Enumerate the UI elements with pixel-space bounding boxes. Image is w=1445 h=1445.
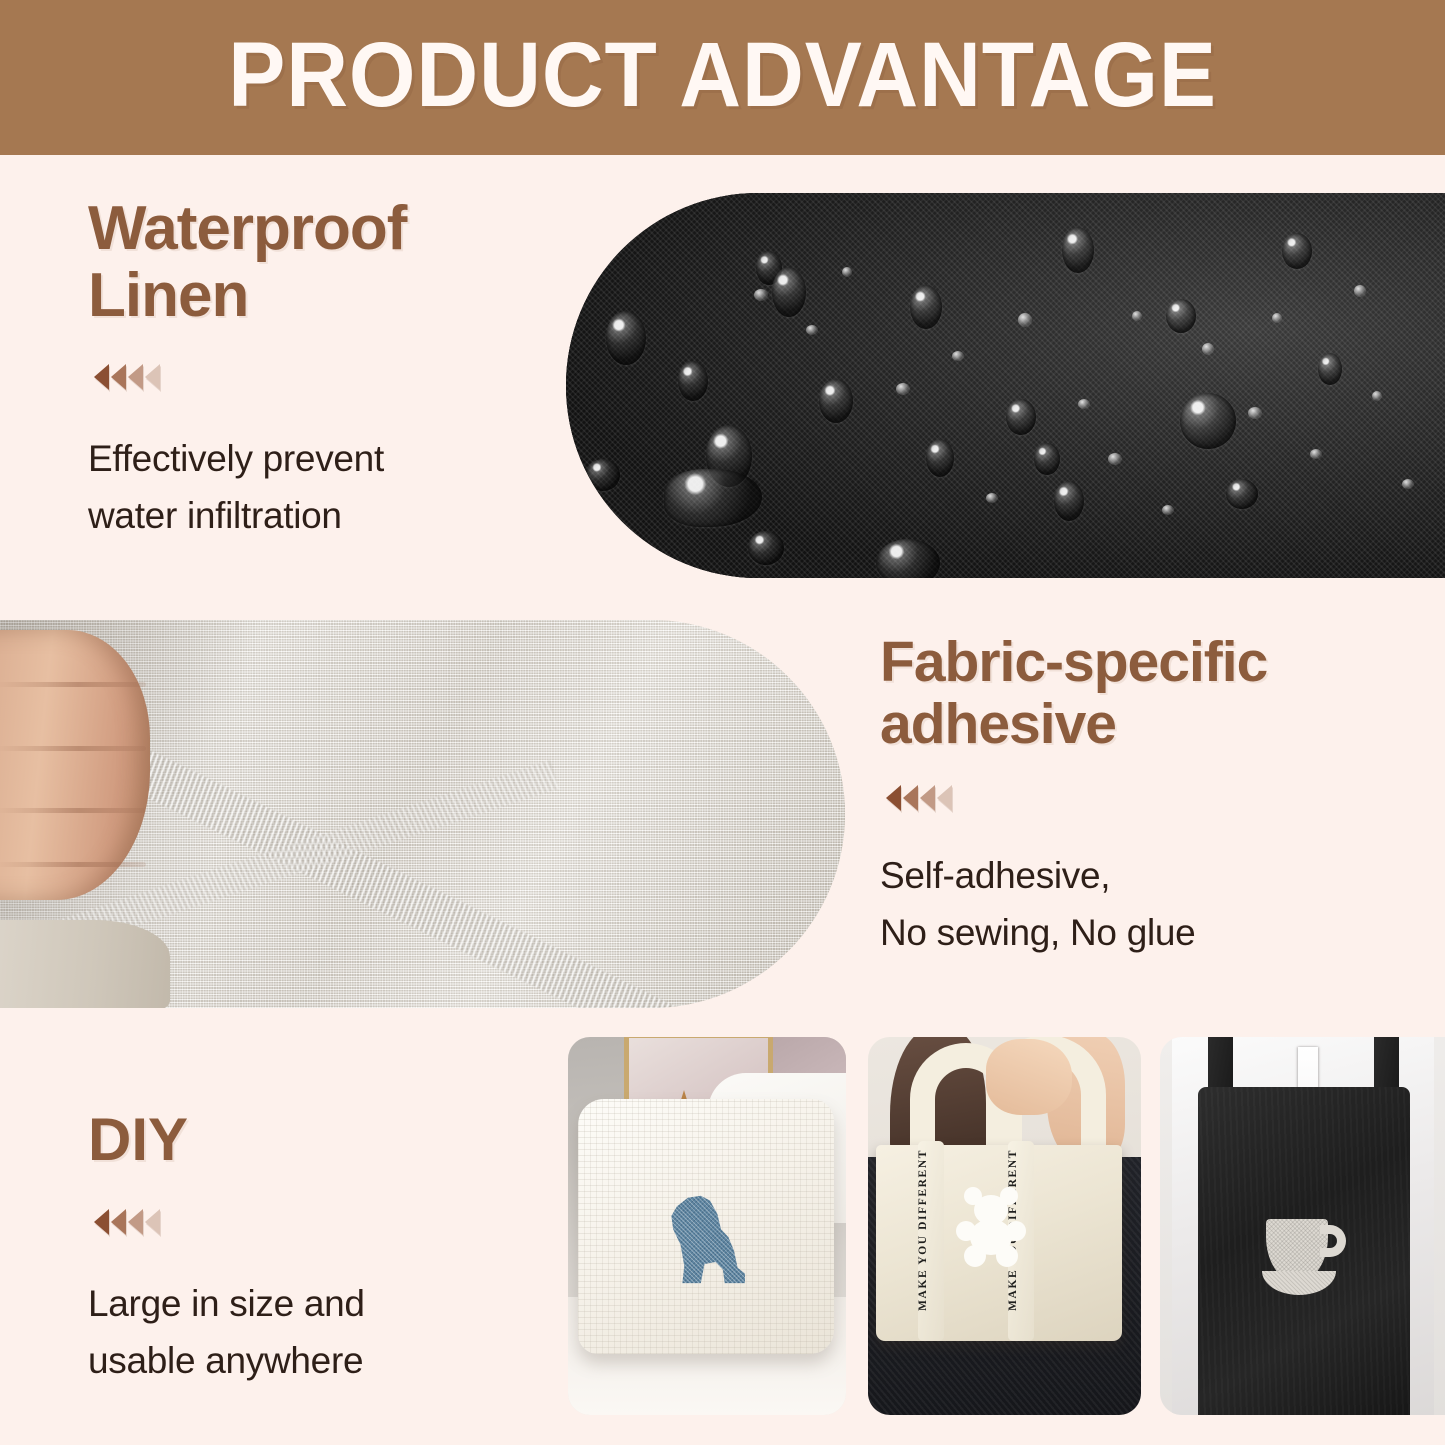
hand	[986, 1039, 1072, 1115]
feature-body: Large in size and usable anywhere	[88, 1275, 518, 1390]
strap-text-left: MAKE YOU DIFFERENT	[918, 1149, 930, 1311]
teddy-bear-patch	[954, 1187, 1028, 1271]
chevron-left-icon	[94, 1209, 109, 1235]
chevron-left-icon	[111, 364, 126, 390]
teacup-patch	[1262, 1219, 1348, 1295]
gallery-image-tote-bag: MAKE YOU DIFFERENT MAKE YOU DIFFERENT	[868, 1037, 1141, 1415]
feature-block-waterproof-linen: Waterproof Linen Effectively prevent wat…	[88, 196, 528, 545]
feature-body: Effectively prevent water infiltration	[88, 430, 528, 545]
gallery-image-apron	[1160, 1037, 1445, 1415]
chevron-divider-icon	[94, 364, 528, 390]
feature-block-diy: DIY Large in size and usable anywhere	[88, 1108, 518, 1389]
chevron-left-icon	[903, 785, 918, 811]
chevron-divider-icon	[886, 785, 1425, 811]
chevron-left-icon	[128, 364, 143, 390]
feature-heading: DIY	[88, 1108, 518, 1173]
throw-pillow	[578, 1099, 834, 1354]
feature-block-fabric-specific-adhesive: Fabric-specific adhesive Self-adhesive, …	[880, 632, 1425, 962]
product-advantage-infographic: PRODUCT ADVANTAGE Waterproof Linen Effec…	[0, 0, 1445, 1445]
feature-heading: Waterproof Linen	[88, 196, 528, 330]
image-waterproof-fabric	[566, 193, 1445, 578]
black-apron	[1198, 1087, 1410, 1415]
image-linen-patch-fabric	[0, 620, 845, 1008]
feature-heading: Fabric-specific adhesive	[880, 632, 1425, 755]
banner: PRODUCT ADVANTAGE	[0, 0, 1445, 155]
dog-silhouette-patch	[664, 1191, 756, 1287]
banner-title: PRODUCT ADVANTAGE	[228, 29, 1217, 127]
feature-body: Self-adhesive, No sewing, No glue	[880, 847, 1425, 962]
chevron-divider-icon	[94, 1209, 518, 1235]
chevron-left-icon	[937, 785, 952, 811]
chevron-left-icon	[886, 785, 901, 811]
chevron-left-icon	[920, 785, 935, 811]
chevron-left-icon	[111, 1209, 126, 1235]
chevron-left-icon	[128, 1209, 143, 1235]
chevron-left-icon	[94, 364, 109, 390]
gallery-image-pillow	[568, 1037, 846, 1415]
chevron-left-icon	[145, 364, 160, 390]
chevron-left-icon	[145, 1209, 160, 1235]
